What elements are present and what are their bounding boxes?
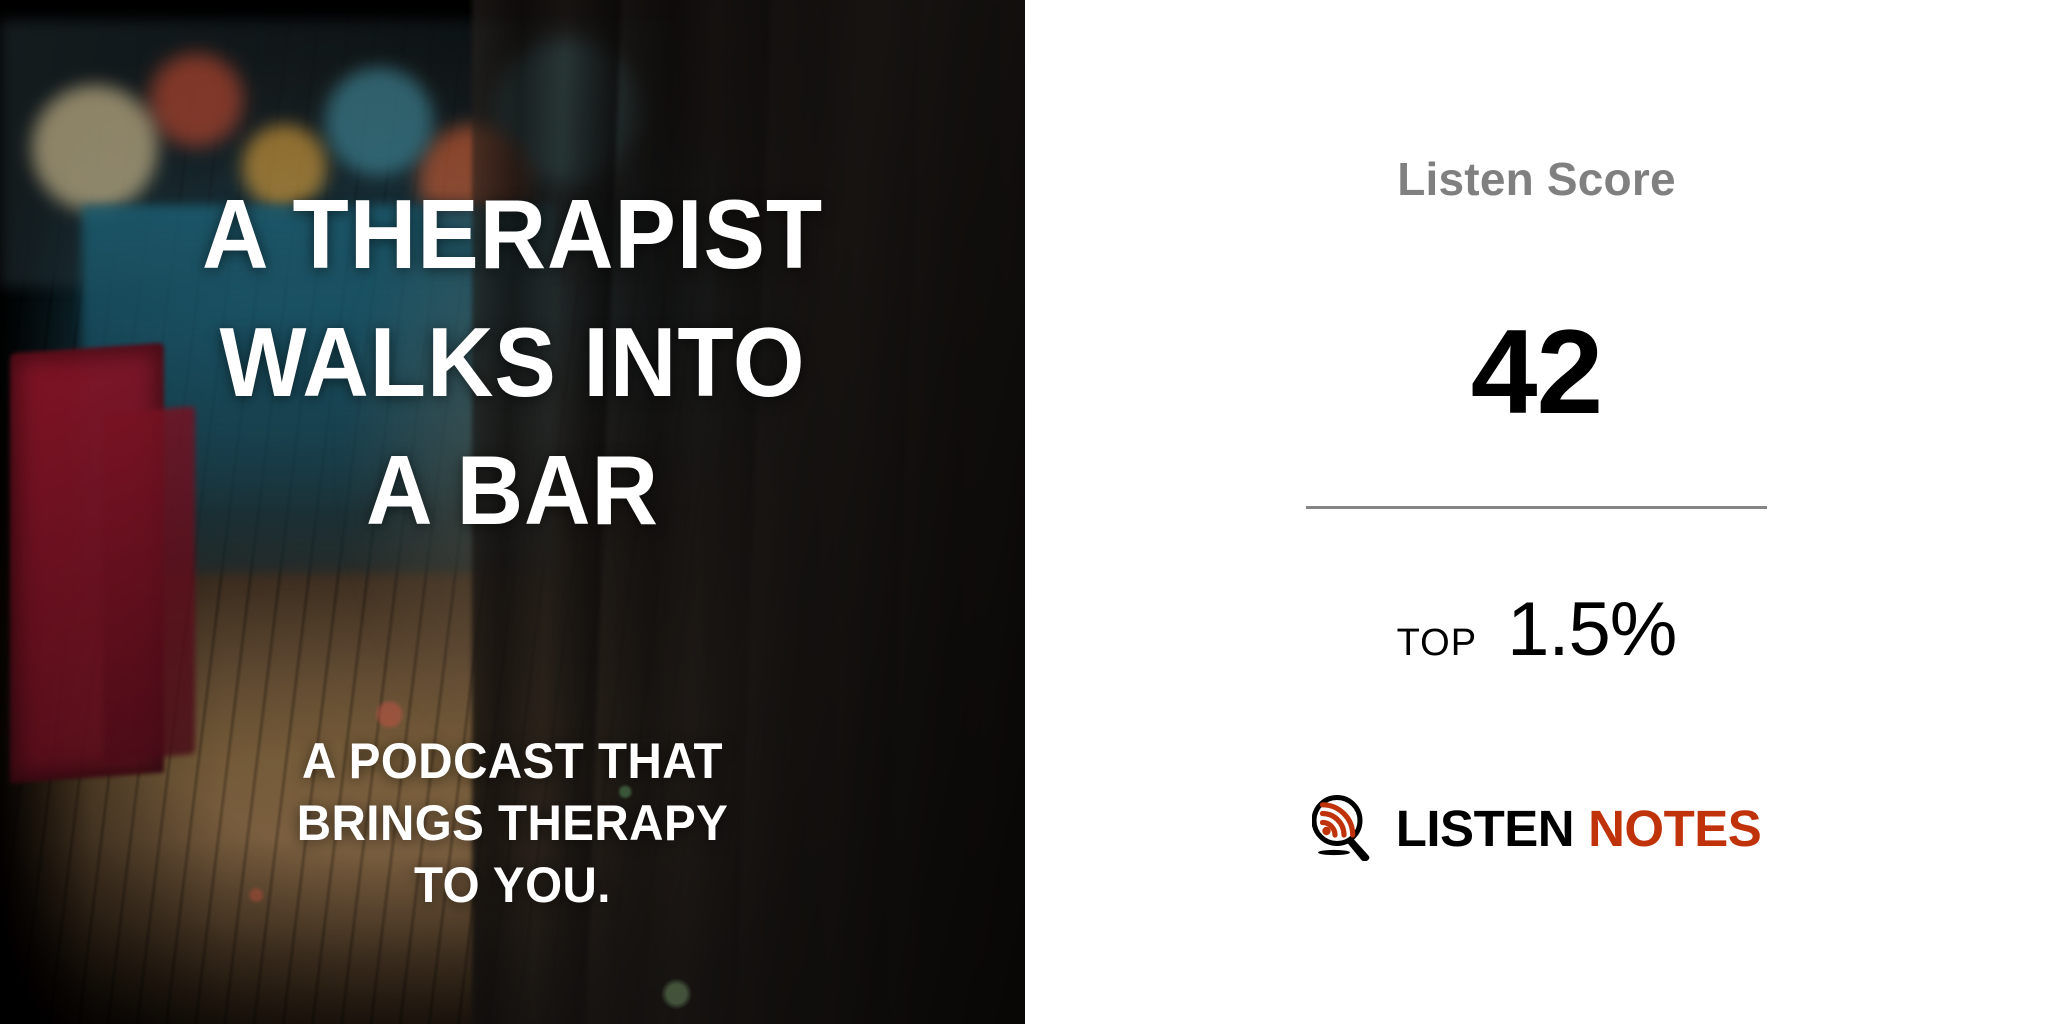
- cover-title-line-2: WALKS INTO: [31, 298, 995, 426]
- listen-score-heading: Listen Score: [1025, 152, 2048, 206]
- cover-title: A THERAPIST WALKS INTO A BAR: [31, 170, 995, 554]
- cover-subtitle: A PODCAST THAT BRINGS THERAPY TO YOU.: [26, 730, 1000, 916]
- listen-notes-wordmark: LISTENNOTES: [1396, 803, 1762, 854]
- rank-label: TOP: [1397, 622, 1477, 664]
- listen-score-panel: Listen Score 42 TOP1.5%: [1025, 0, 2048, 1024]
- cover-subtitle-line-2: BRINGS THERAPY: [26, 792, 1000, 854]
- magnifier-rss-icon: [1312, 795, 1374, 861]
- cover-subtitle-line-1: A PODCAST THAT: [26, 730, 1000, 792]
- panel-divider: [1306, 506, 1767, 509]
- rank-value: 1.5%: [1507, 587, 1676, 672]
- cover-title-line-1: A THERAPIST: [31, 170, 995, 298]
- listen-score-rank: TOP1.5%: [1025, 586, 2048, 673]
- logo-word-listen: LISTEN: [1396, 800, 1574, 857]
- cover-subtitle-line-3: TO YOU.: [26, 854, 1000, 916]
- cover-title-line-3: A BAR: [31, 426, 995, 554]
- cover-text-overlay: A THERAPIST WALKS INTO A BAR A PODCAST T…: [0, 0, 1025, 1024]
- podcast-cover-art[interactable]: A THERAPIST WALKS INTO A BAR A PODCAST T…: [0, 0, 1025, 1024]
- listen-score-value: 42: [1025, 312, 2048, 432]
- listen-score-card: A THERAPIST WALKS INTO A BAR A PODCAST T…: [0, 0, 2048, 1024]
- logo-word-notes: NOTES: [1588, 800, 1761, 857]
- listen-notes-logo[interactable]: LISTENNOTES: [1025, 795, 2048, 861]
